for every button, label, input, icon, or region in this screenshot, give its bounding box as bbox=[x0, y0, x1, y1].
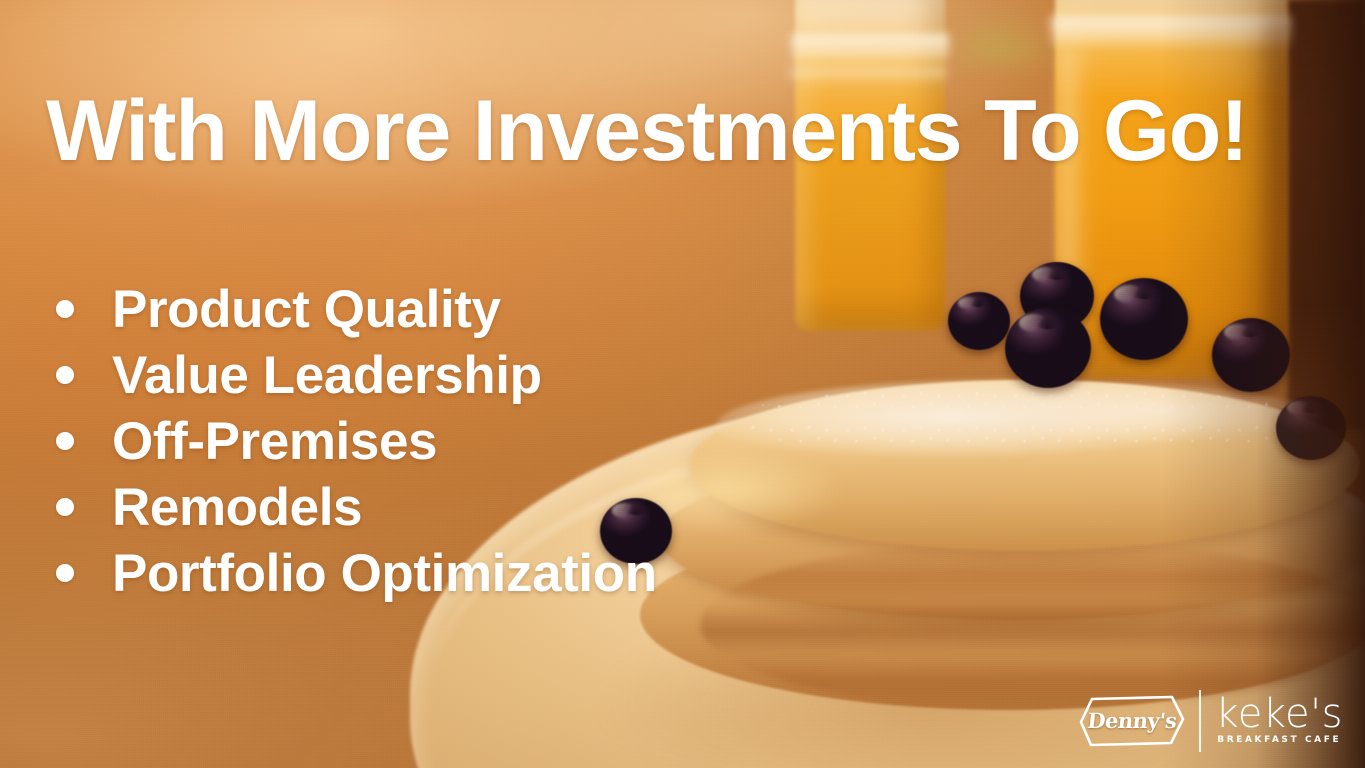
bullet-label: Remodels bbox=[112, 481, 362, 534]
list-item: Value Leadership bbox=[56, 342, 657, 408]
slide-content: With More Investments To Go! Product Qua… bbox=[0, 0, 1365, 768]
dennys-logo: Denny's bbox=[1079, 695, 1185, 747]
bullet-dot-icon bbox=[56, 366, 74, 384]
bullet-dot-icon bbox=[56, 498, 74, 516]
list-item: Remodels bbox=[56, 474, 657, 540]
logo-divider bbox=[1199, 690, 1201, 752]
dennys-wordmark: Denny's bbox=[1078, 708, 1187, 733]
bullet-dot-icon bbox=[56, 432, 74, 450]
slide-title: With More Investments To Go! bbox=[46, 88, 1248, 174]
bullet-label: Portfolio Optimization bbox=[112, 547, 657, 600]
kekes-logo: keke's BREAKFAST CAFE bbox=[1215, 695, 1343, 747]
bullet-label: Product Quality bbox=[112, 283, 501, 336]
bullet-dot-icon bbox=[56, 564, 74, 582]
bullet-label: Off-Premises bbox=[112, 415, 437, 468]
bullet-list: Product Quality Value Leadership Off-Pre… bbox=[56, 276, 657, 606]
list-item: Off-Premises bbox=[56, 408, 657, 474]
kekes-wordmark: keke's bbox=[1215, 695, 1343, 733]
bullet-label: Value Leadership bbox=[112, 349, 542, 402]
list-item: Product Quality bbox=[56, 276, 657, 342]
list-item: Portfolio Optimization bbox=[56, 540, 657, 606]
logo-lockup: Denny's keke's BREAKFAST CAFE bbox=[1079, 690, 1343, 752]
presentation-slide: With More Investments To Go! Product Qua… bbox=[0, 0, 1365, 768]
kekes-tagline: BREAKFAST CAFE bbox=[1217, 735, 1341, 745]
bullet-dot-icon bbox=[56, 300, 74, 318]
